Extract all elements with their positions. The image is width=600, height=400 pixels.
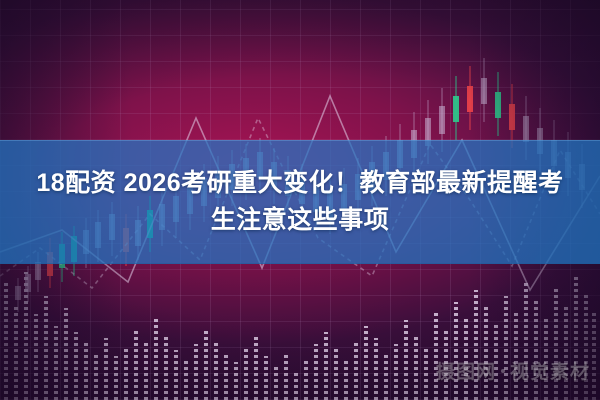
headline-text-block: 18配资 2026考研重大变化！教育部最新提醒考 生注意这些事项 bbox=[0, 140, 600, 264]
headline-line-1: 18配资 2026考研重大变化！教育部最新提醒考 bbox=[36, 169, 563, 199]
news-banner-image: 18配资 2026考研重大变化！教育部最新提醒考 生注意这些事项 摄图网 视觉素… bbox=[0, 0, 600, 400]
headline-line-2: 生注意这些事项 bbox=[211, 206, 390, 236]
